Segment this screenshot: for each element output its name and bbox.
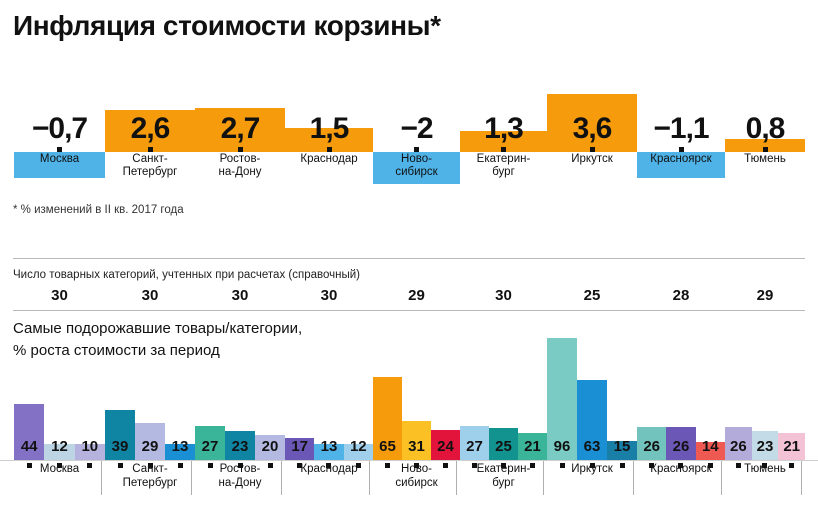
riser-bar-value: 65 (373, 439, 402, 454)
inflation-column-5: −2Ново-сибирск (373, 40, 460, 215)
bottom-axis-line (0, 460, 818, 461)
bottom-city-label: Москва (14, 463, 105, 477)
riser-bar: 13 (165, 444, 195, 461)
bottom-city-label: Ростов-на-Дону (195, 463, 285, 490)
riser-bar: 26 (725, 427, 752, 460)
axis-tick-marker (327, 147, 332, 152)
bottom-city-label: Тюмень (725, 463, 805, 477)
inflation-city-label: Краснодар (285, 153, 373, 166)
bottom-city-label-line-1: Ново- (373, 463, 460, 477)
riser-bar-value: 17 (285, 439, 314, 454)
bottom-city-label: Красноярск (637, 463, 725, 477)
riser-bar-value: 29 (135, 439, 165, 454)
inflation-city-label: Санкт-Петербург (105, 153, 195, 179)
riser-bar-value: 27 (460, 439, 489, 454)
inflation-column-9: 0,8Тюмень (725, 40, 805, 215)
riser-bar: 12 (344, 444, 373, 460)
bottom-city-label-line-1: Санкт- (105, 463, 195, 477)
riser-bar-value: 14 (696, 439, 725, 454)
riser-bar-value: 10 (75, 439, 105, 454)
riser-bar: 24 (431, 430, 460, 460)
axis-tick-marker (679, 147, 684, 152)
riser-bar-value: 96 (547, 439, 577, 454)
page-title: Инфляция стоимости корзины* (13, 10, 441, 42)
riser-bar: 31 (402, 421, 431, 460)
inflation-value: 0,8 (725, 114, 805, 144)
bottom-label-separator (633, 461, 634, 495)
riser-bar-value: 20 (255, 439, 285, 454)
city-label-line-1: Санкт- (105, 153, 195, 166)
top-risers-bar-chart: 4412103929132723201713126531242725219663… (0, 300, 818, 460)
inflation-value: 1,3 (460, 114, 547, 144)
city-label-line-1: Ростов- (195, 153, 285, 166)
inflation-city-label: Тюмень (725, 153, 805, 166)
city-label-line-2: бург (460, 166, 547, 179)
city-label-line-1: Екатерин- (460, 153, 547, 166)
riser-bar-value: 13 (314, 439, 343, 454)
inflation-city-label: Екатерин-бург (460, 153, 547, 179)
riser-bar-value: 26 (637, 439, 666, 454)
riser-bar: 96 (547, 338, 577, 460)
axis-tick-marker (238, 147, 243, 152)
axis-tick-marker (590, 147, 595, 152)
bottom-label-separator (281, 461, 282, 495)
riser-bar-value: 13 (165, 439, 195, 454)
bottom-city-label-line-1: Иркутск (547, 463, 637, 477)
inflation-column-2: 2,6Санкт-Петербург (105, 40, 195, 215)
city-label-line-1: Ново- (373, 153, 460, 166)
riser-bar: 23 (225, 431, 255, 460)
bottom-city-label-line-2: Петербург (105, 477, 195, 491)
riser-bar: 21 (518, 433, 547, 460)
riser-bar: 20 (255, 435, 285, 460)
inflation-city-label: Москва (14, 153, 105, 166)
bottom-label-separator (456, 461, 457, 495)
inflation-value: −1,1 (637, 114, 725, 144)
axis-tick-marker (501, 147, 506, 152)
inflation-column-7: 3,6Иркутск (547, 40, 637, 215)
riser-bar: 10 (75, 444, 105, 460)
riser-bar-value: 12 (344, 439, 373, 454)
riser-bar: 21 (778, 433, 805, 460)
bottom-city-label: Екатерин-бург (460, 463, 547, 490)
riser-bar-value: 21 (778, 439, 805, 454)
riser-bar: 25 (489, 428, 518, 460)
riser-bar-value: 23 (752, 439, 779, 454)
riser-bar-value: 31 (402, 439, 431, 454)
bottom-city-label: Ново-сибирск (373, 463, 460, 490)
bottom-label-separator (801, 461, 802, 495)
city-label-line-2: сибирск (373, 166, 460, 179)
riser-bar-value: 15 (607, 439, 637, 454)
inflation-bar-chart: −0,7Москва2,6Санкт-Петербург2,7Ростов-на… (0, 40, 818, 215)
bottom-city-label-line-1: Краснодар (285, 463, 373, 477)
inflation-value: −2 (373, 114, 460, 144)
bottom-label-separator (369, 461, 370, 495)
inflation-city-label: Иркутск (547, 153, 637, 166)
axis-tick-marker (414, 147, 419, 152)
inflation-value: 2,6 (105, 114, 195, 144)
bottom-city-label-line-1: Тюмень (725, 463, 805, 477)
bottom-label-separator (101, 461, 102, 495)
riser-bar: 44 (14, 404, 44, 460)
riser-bar: 15 (607, 441, 637, 460)
riser-bar-value: 12 (44, 439, 74, 454)
riser-bar: 63 (577, 380, 607, 460)
riser-bar-value: 24 (431, 439, 460, 454)
riser-bar-value: 44 (14, 439, 44, 454)
city-label-line-2: на-Дону (195, 166, 285, 179)
riser-bar: 65 (373, 377, 402, 460)
riser-bar-value: 25 (489, 439, 518, 454)
category-count-header: Число товарных категорий, учтенных при р… (13, 269, 360, 281)
riser-bar: 17 (285, 438, 314, 460)
axis-tick-marker (763, 147, 768, 152)
bottom-label-separator (191, 461, 192, 495)
inflation-column-1: −0,7Москва (14, 40, 105, 215)
riser-bar-value: 23 (225, 439, 255, 454)
city-label-line-2: Петербург (105, 166, 195, 179)
riser-bar-value: 27 (195, 439, 225, 454)
city-label-line-1: Красноярск (637, 153, 725, 166)
bottom-city-label: Санкт-Петербург (105, 463, 195, 490)
inflation-column-4: 1,5Краснодар (285, 40, 373, 215)
riser-bar-value: 21 (518, 439, 547, 454)
bottom-city-label-line-2: на-Дону (195, 477, 285, 491)
inflation-column-8: −1,1Красноярск (637, 40, 725, 215)
inflation-city-label: Ростов-на-Дону (195, 153, 285, 179)
divider-top (13, 258, 805, 259)
inflation-value: 2,7 (195, 114, 285, 144)
riser-bar: 12 (44, 444, 74, 460)
city-label-line-1: Тюмень (725, 153, 805, 166)
riser-bar-value: 63 (577, 439, 607, 454)
riser-bar-value: 39 (105, 439, 135, 454)
city-label-line-1: Москва (14, 153, 105, 166)
bottom-city-label-line-2: сибирск (373, 477, 460, 491)
inflation-column-3: 2,7Ростов-на-Дону (195, 40, 285, 215)
riser-bar: 27 (195, 426, 225, 460)
bottom-city-label: Иркутск (547, 463, 637, 477)
axis-tick-marker (148, 147, 153, 152)
inflation-value: 1,5 (285, 114, 373, 144)
riser-bar: 23 (752, 431, 779, 460)
inflation-value: 3,6 (547, 114, 637, 144)
riser-bar: 39 (105, 410, 135, 460)
riser-bar: 27 (460, 426, 489, 460)
bottom-city-label-line-1: Екатерин- (460, 463, 547, 477)
axis-tick-marker (57, 147, 62, 152)
city-label-line-1: Иркутск (547, 153, 637, 166)
bottom-city-label-line-1: Красноярск (637, 463, 725, 477)
riser-bar-value: 26 (666, 439, 695, 454)
bottom-city-label-line-2: бург (460, 477, 547, 491)
riser-bar-value: 26 (725, 439, 752, 454)
infographic-root: Инфляция стоимости корзины* −0,7Москва2,… (0, 0, 818, 514)
bottom-city-label: Краснодар (285, 463, 373, 477)
bottom-label-separator (721, 461, 722, 495)
riser-bar: 29 (135, 423, 165, 460)
bottom-city-label-line-1: Москва (14, 463, 105, 477)
riser-bar: 13 (314, 444, 343, 461)
footnote: * % изменений в II кв. 2017 года (13, 204, 184, 216)
bottom-city-label-line-1: Ростов- (195, 463, 285, 477)
riser-bar: 14 (696, 442, 725, 460)
inflation-city-label: Ново-сибирск (373, 153, 460, 179)
riser-bar: 26 (666, 427, 695, 460)
bottom-label-separator (543, 461, 544, 495)
riser-bar: 26 (637, 427, 666, 460)
inflation-value: −0,7 (14, 114, 105, 144)
inflation-city-label: Красноярск (637, 153, 725, 166)
inflation-column-6: 1,3Екатерин-бург (460, 40, 547, 215)
city-label-line-1: Краснодар (285, 153, 373, 166)
